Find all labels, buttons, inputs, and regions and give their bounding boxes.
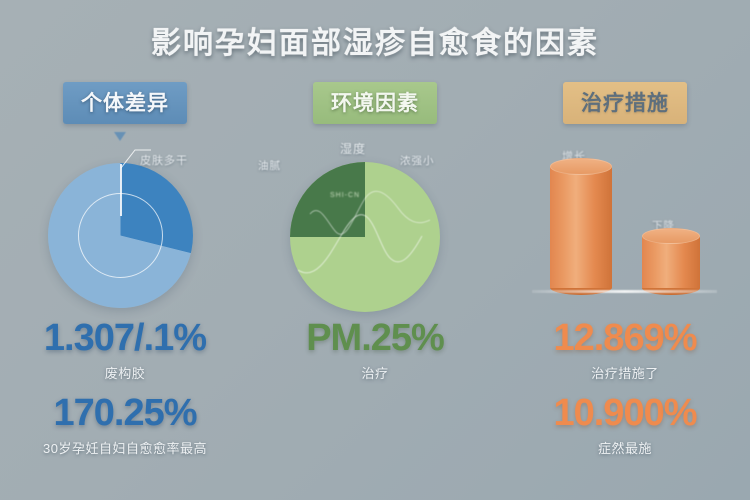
pie-label-concentration: 浓强小 (400, 153, 435, 168)
stat-environment-primary: PM.25% 治疗 (250, 319, 500, 382)
stat-treatment-secondary-number: 10.900 (553, 394, 663, 432)
bar-cylinder-growth (550, 166, 612, 288)
stat-individual-secondary-percent: % (164, 394, 197, 432)
chart-treatment-measures: 增长 下降 (500, 138, 750, 313)
section-banner-environment-label: 环境因素 (331, 92, 419, 115)
section-banner-treatment-label: 治疗措施 (581, 92, 669, 115)
stat-treatment-secondary-caption: 症然最施 (500, 438, 750, 457)
pie-chart-green (290, 162, 440, 312)
section-banner-individual: 个体差异 (63, 82, 187, 124)
bar-cylinder-decline-cap (642, 228, 700, 244)
stat-treatment-primary-caption: 治疗措施了 (500, 363, 750, 382)
stat-individual-primary-caption: 废构胶 (0, 363, 250, 382)
stat-individual-primary-percent: % (173, 319, 206, 357)
page-title: 影响孕妇面部湿疹自愈食的因素 (0, 18, 750, 62)
stat-individual-secondary: 170.25% 30岁孕妊自妇自愈愈率最高 (0, 394, 250, 457)
section-environmental-factors: 环境因素 油腻 湿度 浓强小 SHI-CN PM.25% 治疗 (250, 82, 500, 500)
stat-individual-primary: 1.307/.1% 废构胶 (0, 319, 250, 382)
page-title-text: 影响孕妇面部湿疹自愈食的因素 (151, 27, 599, 60)
section-banner-treatment: 治疗措施 (563, 82, 687, 124)
bar-cylinder-growth-cap (550, 158, 612, 175)
chart-individual-differences: 皮肤多干 (0, 138, 250, 313)
stat-treatment-secondary: 10.900% 症然最施 (500, 394, 750, 457)
section-banner-environment: 环境因素 (313, 82, 437, 124)
pie-slice-divider (120, 164, 122, 216)
chart-environmental-factors: 油腻 湿度 浓强小 SHI-CN (250, 138, 500, 313)
pie-slice-humidity (290, 162, 365, 237)
bar-chart-baseline (532, 290, 717, 293)
stat-treatment-primary-number: 12.869 (553, 319, 663, 357)
stat-individual-secondary-number: 170.25 (53, 394, 163, 432)
stat-treatment-secondary-percent: % (664, 394, 697, 432)
bar-cylinder-decline (642, 236, 700, 288)
stat-treatment-primary: 12.869% 治疗措施了 (500, 319, 750, 382)
stat-environment-primary-number: PM.25 (306, 319, 411, 357)
pie-label-oily: 油腻 (258, 158, 281, 173)
stat-environment-primary-percent: % (411, 319, 444, 357)
section-treatment-measures: 治疗措施 增长 下降 12.869% 治疗措施了 10.900% 症然最施 (500, 82, 750, 500)
stat-environment-primary-caption: 治疗 (250, 363, 500, 382)
section-banner-individual-label: 个体差异 (81, 92, 169, 115)
pie-pointer-icon (114, 132, 126, 141)
pie-inner-watermark-text: SHI-CN (330, 192, 360, 199)
section-individual-differences: 个体差异 皮肤多干 1.307/.1% 废构胶 170.25% 30岁孕妊自妇自… (0, 82, 250, 500)
bar-cylinder-growth-body (550, 166, 612, 288)
stat-individual-primary-number: 1.307/.1 (44, 319, 173, 357)
pie-label-humidity: 湿度 (340, 140, 366, 157)
stat-treatment-primary-percent: % (664, 319, 697, 357)
pie-label-dry-skin: 皮肤多干 (140, 152, 188, 168)
stat-individual-secondary-caption: 30岁孕妊自妇自愈愈率最高 (0, 438, 250, 457)
